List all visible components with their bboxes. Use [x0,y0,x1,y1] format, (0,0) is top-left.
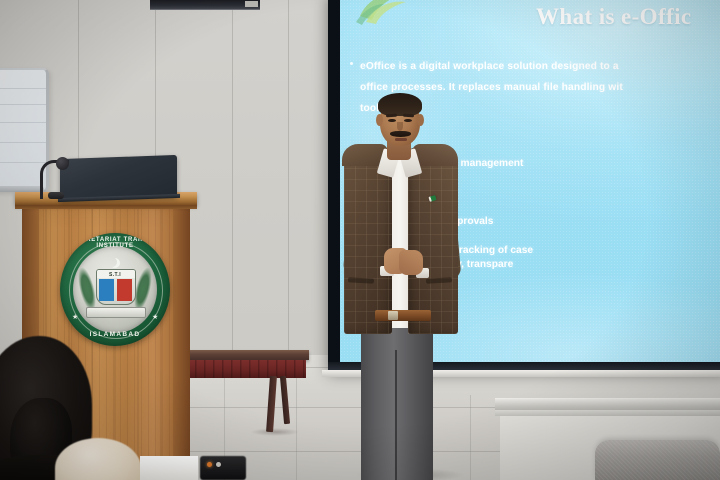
belt-buckle [388,311,398,320]
wall-mounted-panel [150,0,260,10]
presenter-ear-left [376,114,383,126]
trouser-crease [395,350,397,480]
wooden-bench-top [185,350,309,360]
presenter-ear-right [417,114,424,126]
emblem-text-bottom: ISLAMABAD [60,331,170,338]
presenter-jacket-left [344,148,392,334]
emblem-shield-initials: S.T.I [96,272,134,278]
presenter [330,100,490,480]
slide-intro-line: eOffice is a digital workplace solution … [360,56,720,77]
podium-right-edge [173,209,190,480]
device-led-orange [207,462,212,467]
green-swoosh-logo-icon [356,0,408,26]
foreground-device [200,456,246,480]
microphone-head [56,157,69,170]
presenter-mouth [395,138,407,141]
emblem-text-top: SECRETARIAT TRAINING INSTITUTE [60,237,170,249]
presenter-hand-right [399,250,423,275]
grey-chair [595,440,720,480]
panel-tab [245,1,258,7]
presenter-moustache [390,131,411,137]
emblem-star-left: ★ [72,313,78,321]
podium-top-edge [15,205,197,209]
photo-scene: What is e-Offic eOffice is a digital wor… [0,0,720,480]
presenter-trousers [361,322,433,480]
presenter-jacket-right [408,148,458,334]
wall-skirting-lower [495,410,720,416]
wooden-bench-apron [186,360,306,378]
presenter-hair [378,93,422,116]
bench-shadow [250,428,300,436]
wall-seam [232,0,233,360]
crescent-icon [107,257,117,267]
device-led-grey [216,462,221,467]
emblem-scroll [86,307,146,318]
presenter-belt [375,310,431,321]
wall-seam [288,0,289,360]
presenter-nose [397,122,403,131]
slide-title: What is e-Offic [536,4,720,30]
paper-sheet [140,456,198,480]
bullet-dot [350,62,353,65]
emblem-star-right: ★ [152,313,158,321]
institute-emblem: S.T.I SECRETARIAT TRAINING INSTITUTE ISL… [60,233,170,346]
